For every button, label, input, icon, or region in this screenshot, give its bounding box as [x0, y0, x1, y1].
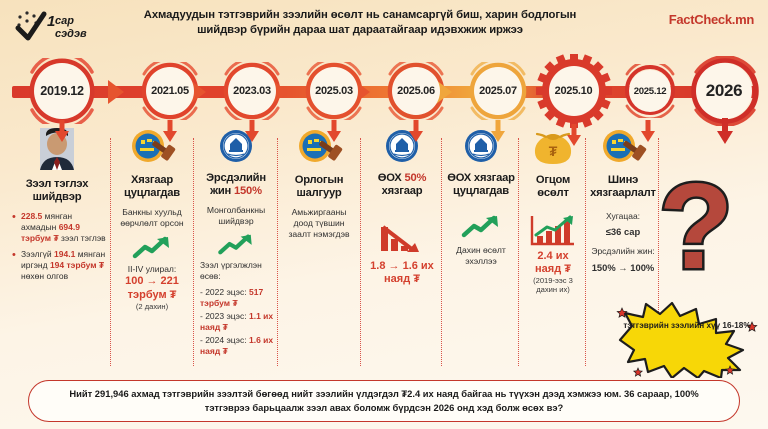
column-7: ₮ Огцом өсөлт 2.4 их наяд ₮ (2019-ээс 3 …	[524, 128, 582, 294]
column-divider	[193, 138, 194, 366]
timeline-node-label: 2025.03	[315, 85, 353, 97]
column-2: Хязгаар цуцлагдав Банкны хуульд өөрчлөлт…	[116, 128, 188, 311]
column-desc: Монголбанкны шийдвэр	[198, 205, 274, 227]
down-arrow-icon	[409, 120, 423, 142]
column-stat-label: II-IV улирал:	[116, 264, 188, 275]
bullet-text: Зээлгүй	[21, 249, 54, 259]
column-stat-value: 2.4 их наяд ₮	[524, 250, 582, 276]
column-6: ӨОХ хязгаар цуцлагдав Дахин өсөлт эхэллэ…	[446, 128, 516, 267]
timeline-node-7[interactable]: 2025.10	[524, 56, 624, 126]
timeline-node-label: 2021.05	[151, 85, 189, 97]
column-title: ӨОХ хязгаар цуцлагдав	[446, 172, 516, 199]
list-item: Зээлгүй 194.1 мянган иргэнд 194 тэрбум ₮…	[12, 249, 108, 282]
column-title-main: ӨОХ	[378, 172, 405, 184]
column-divider	[110, 138, 111, 366]
column-divider	[277, 138, 278, 366]
column-5: ӨОХ 50% хязгаар 1.8 → 1.6 их наяд ₮	[366, 128, 438, 286]
column-title-accent: 150%	[234, 185, 262, 197]
trend-up-icon	[460, 213, 502, 239]
column-bullets: 228.5 мянган ахмадын 694.9 тэрбум ₮ зээл…	[6, 211, 108, 282]
stat-line-label: - 2022 эцэс:	[200, 287, 249, 297]
down-arrow-icon	[163, 120, 177, 142]
bullet-number: 194.1	[54, 249, 75, 259]
bullet-text: нөхөн олгов	[21, 271, 68, 281]
bullet-number: 228.5	[21, 211, 42, 221]
stat-line-label: - 2024 эцэс:	[200, 335, 249, 345]
column-divider	[518, 138, 519, 366]
column-desc: Банкны хуульд өөрчлөлт орсон	[116, 207, 188, 229]
footer-text: Нийт 291,946 ахмад тэтгэврийн зээлтэй бө…	[51, 387, 717, 414]
stat-line-label: - 2023 эцэс:	[200, 311, 249, 321]
column-4: Орлогын шалгуур Амьжиргааны доод түвшин …	[282, 128, 356, 240]
down-arrow-icon	[491, 120, 505, 142]
down-arrow-icon	[717, 118, 731, 140]
column-3: Эрсдэлийн жин 150% Монголбанкны шийдвэр …	[198, 128, 274, 358]
timeline-node-label: 2025.06	[397, 85, 435, 97]
column-desc: Амьжиргааны доод түвшин заалт нэмэгдэв	[282, 207, 356, 240]
column-title: Хязгаар цуцлагдав	[116, 174, 188, 201]
column-stat-value: 100 → 221 тэрбум ₮	[116, 275, 188, 301]
column-title: ӨОХ 50% хязгаар	[366, 172, 438, 199]
column-line2-label: Эрсдэлийн жин:	[590, 246, 656, 257]
column-stat-label: Зээл үргэлжлэн өсөв:	[198, 260, 274, 283]
down-arrow-icon	[245, 120, 259, 142]
bullet-number: 194 тэрбум ₮	[50, 260, 104, 270]
timeline-node-1[interactable]: 2019.12	[14, 56, 110, 126]
timeline-node-label: 2025.10	[555, 85, 593, 97]
footer-summary: Нийт 291,946 ахмад тэтгэврийн зээлтэй бө…	[28, 380, 740, 422]
column-line1-label: Хугацаа:	[590, 211, 656, 222]
down-arrow-icon	[55, 120, 69, 142]
question-mark: ?	[648, 176, 744, 296]
column-desc: Дахин өсөлт эхэллээ	[446, 245, 516, 267]
column-line2-value: 150% → 100%	[590, 262, 656, 275]
column-stat-note: (2 дахин)	[116, 302, 188, 311]
trend-down-icon	[379, 223, 425, 257]
column-divider	[441, 138, 442, 366]
column-title: Зээл тэглэх шийдвэр	[6, 178, 108, 205]
svg-text:сар: сар	[55, 15, 74, 27]
timeline-node-label: 2019.12	[40, 84, 83, 98]
logo: 1 сар сэдэв	[14, 8, 114, 46]
list-item: 228.5 мянган ахмадын 694.9 тэрбум ₮ зээл…	[12, 211, 108, 244]
brand-label: FactCheck.mn	[669, 12, 754, 27]
callout-burst: тэтгэврийн зээлийн хүү 16-18%	[612, 300, 762, 378]
stat-line: - 2022 эцэс: 517 тэрбум ₮	[198, 287, 274, 310]
bullet-text: зээл тэглэв	[59, 233, 106, 243]
column-title: Огцом өсөлт	[524, 174, 582, 201]
svg-text:сэдэв: сэдэв	[55, 28, 87, 40]
column-line1-value: ≤36 сар	[590, 226, 656, 239]
svg-text:₮: ₮	[549, 143, 558, 159]
stat-line: - 2024 эцэс: 1.6 их наяд ₮	[198, 335, 274, 358]
column-stat-value: 1.8 → 1.6 их наяд ₮	[366, 260, 438, 286]
column-title: Шинэ хязгаарлалт	[590, 174, 656, 201]
column-divider	[360, 138, 361, 366]
timeline-node-9[interactable]: 2026	[684, 56, 764, 126]
column-1: Зээл тэглэх шийдвэр 228.5 мянган ахмадын…	[6, 128, 108, 287]
timeline-node-label: 2025.12	[634, 86, 667, 97]
stat-line: - 2023 эцэс: 1.1 их наяд ₮	[198, 311, 274, 334]
column-title-accent: 50%	[404, 172, 426, 184]
timeline-node-label: 2023.03	[233, 85, 271, 97]
timeline: 2019.12 2021.05 2023.03 2025.03	[0, 56, 768, 126]
down-arrow-icon	[641, 120, 655, 142]
page-title: Ахмадуудын тэтгэврийн зээлийн өсөлт нь с…	[120, 8, 600, 39]
column-divider	[585, 138, 586, 366]
timeline-node-label: 2026	[706, 81, 743, 101]
column-8: Шинэ хязгаарлалт Хугацаа: ≤36 сар Эрсдэл…	[590, 128, 656, 274]
down-arrow-icon	[327, 120, 341, 142]
down-arrow-icon	[567, 124, 581, 146]
column-title-rest: хязгаар	[382, 185, 423, 197]
question-mark-glyph: ?	[659, 176, 734, 294]
column-title: Эрсдэлийн жин 150%	[198, 172, 274, 199]
timeline-arrow	[108, 80, 130, 104]
trend-up-icon	[132, 234, 172, 260]
trend-up-icon	[216, 232, 256, 256]
column-stat-note: (2019-ээс 3 дахин их)	[524, 276, 582, 294]
callout-text: тэтгэврийн зээлийн хүү 16-18%	[612, 320, 762, 332]
timeline-node-label: 2025.07	[479, 85, 517, 97]
bar-chart-up-icon	[530, 215, 576, 247]
header: 1 сар сэдэв Ахмадуудын тэтгэврийн зээлий…	[0, 0, 768, 52]
timeline-node-8[interactable]: 2025.12	[612, 56, 688, 126]
column-title: Орлогын шалгуур	[282, 174, 356, 201]
